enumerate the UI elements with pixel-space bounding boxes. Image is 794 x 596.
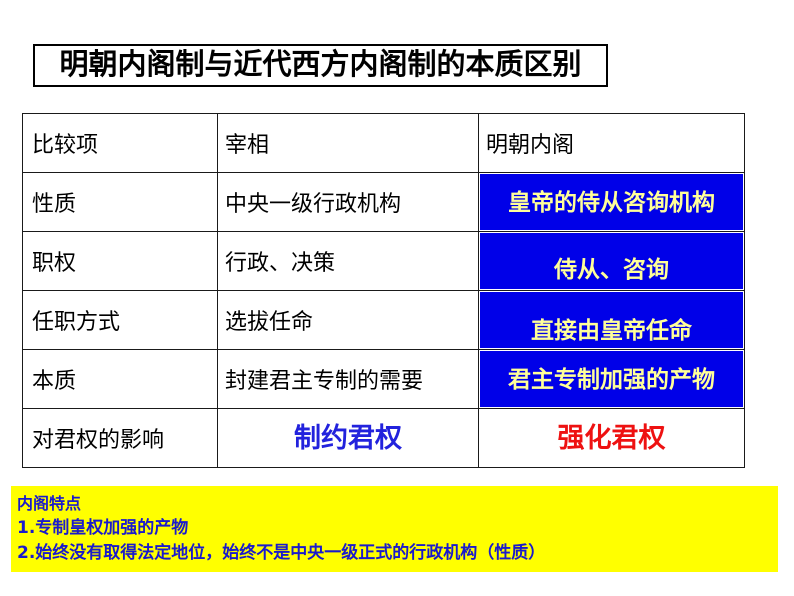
row-cabinet-nature: 皇帝的侍从咨询机构 [479,173,745,232]
comparison-table: 比较项 宰相 明朝内阁 性质 中央一级行政机构 皇帝的侍从咨询机构 [22,113,745,468]
table-row: 本质 封建君主专制的需要 君主专制加强的产物 [23,350,745,409]
row-item-influence: 对君权的影响 [23,409,218,468]
header-label-item: 比较项 [23,127,217,159]
cell-prime-minister-value: 封建君主专制的需要 [218,363,478,395]
cell-item-label: 对君权的影响 [23,422,217,454]
row-cabinet-essence: 君主专制加强的产物 [479,350,745,409]
cell-item-label: 本质 [23,363,217,395]
row-prime-minister-essence: 封建君主专制的需要 [218,350,479,409]
table-row: 任职方式 选拔任命 直接由皇帝任命 [23,291,745,350]
row-prime-minister-appointment: 选拔任命 [218,291,479,350]
highlight-box: 侍从、咨询 [480,233,743,289]
header-label-cabinet: 明朝内阁 [479,127,744,159]
note-line-1: 1.专制皇权加强的产物 [17,516,772,541]
header-cell-cabinet: 明朝内阁 [479,114,745,173]
slide-title-box: 明朝内阁制与近代西方内阁制的本质区别 [33,44,608,87]
note-line-2: 2.始终没有取得法定地位，始终不是中央一级正式的行政机构（性质） [17,541,772,566]
table-row: 职权 行政、决策 侍从、咨询 [23,232,745,291]
cell-cabinet-wrap: 强化君权 [479,409,744,467]
cell-item-label: 职权 [23,245,217,277]
row-item-duties: 职权 [23,232,218,291]
row-prime-minister-duties: 行政、决策 [218,232,479,291]
cell-item-label: 任职方式 [23,304,217,336]
header-label-prime-minister: 宰相 [218,127,478,159]
cell-cabinet-value: 强化君权 [558,425,666,452]
highlight-box: 直接由皇帝任命 [480,292,743,348]
cell-prime-minister-value: 制约君权 [294,425,402,452]
cell-prime-minister-wrap: 制约君权 [218,409,478,467]
page-title: 明朝内阁制与近代西方内阁制的本质区别 [59,51,581,80]
cell-prime-minister-value: 中央一级行政机构 [218,186,478,218]
row-cabinet-duties: 侍从、咨询 [479,232,745,291]
header-cell-prime-minister: 宰相 [218,114,479,173]
row-cabinet-appointment: 直接由皇帝任命 [479,291,745,350]
cabinet-features-note: 内阁特点 1.专制皇权加强的产物 2.始终没有取得法定地位，始终不是中央一级正式… [11,486,778,572]
table-row: 性质 中央一级行政机构 皇帝的侍从咨询机构 [23,173,745,232]
highlight-box: 君主专制加强的产物 [480,351,743,407]
cell-cabinet-value: 侍从、咨询 [554,258,669,281]
highlight-box: 皇帝的侍从咨询机构 [480,174,743,230]
row-prime-minister-influence: 制约君权 [218,409,479,468]
cell-cabinet-value: 君主专制加强的产物 [508,368,715,391]
cell-cabinet-value: 皇帝的侍从咨询机构 [508,191,715,214]
row-item-appointment: 任职方式 [23,291,218,350]
cell-cabinet-value: 直接由皇帝任命 [531,319,692,342]
row-cabinet-influence: 强化君权 [479,409,745,468]
row-item-nature: 性质 [23,173,218,232]
cell-item-label: 性质 [23,186,217,218]
note-heading: 内阁特点 [17,491,772,516]
header-cell-item: 比较项 [23,114,218,173]
cell-prime-minister-value: 行政、决策 [218,245,478,277]
table-header-row: 比较项 宰相 明朝内阁 [23,114,745,173]
cell-prime-minister-value: 选拔任命 [218,304,478,336]
row-item-essence: 本质 [23,350,218,409]
row-prime-minister-nature: 中央一级行政机构 [218,173,479,232]
table-row: 对君权的影响 制约君权 强化君权 [23,409,745,468]
